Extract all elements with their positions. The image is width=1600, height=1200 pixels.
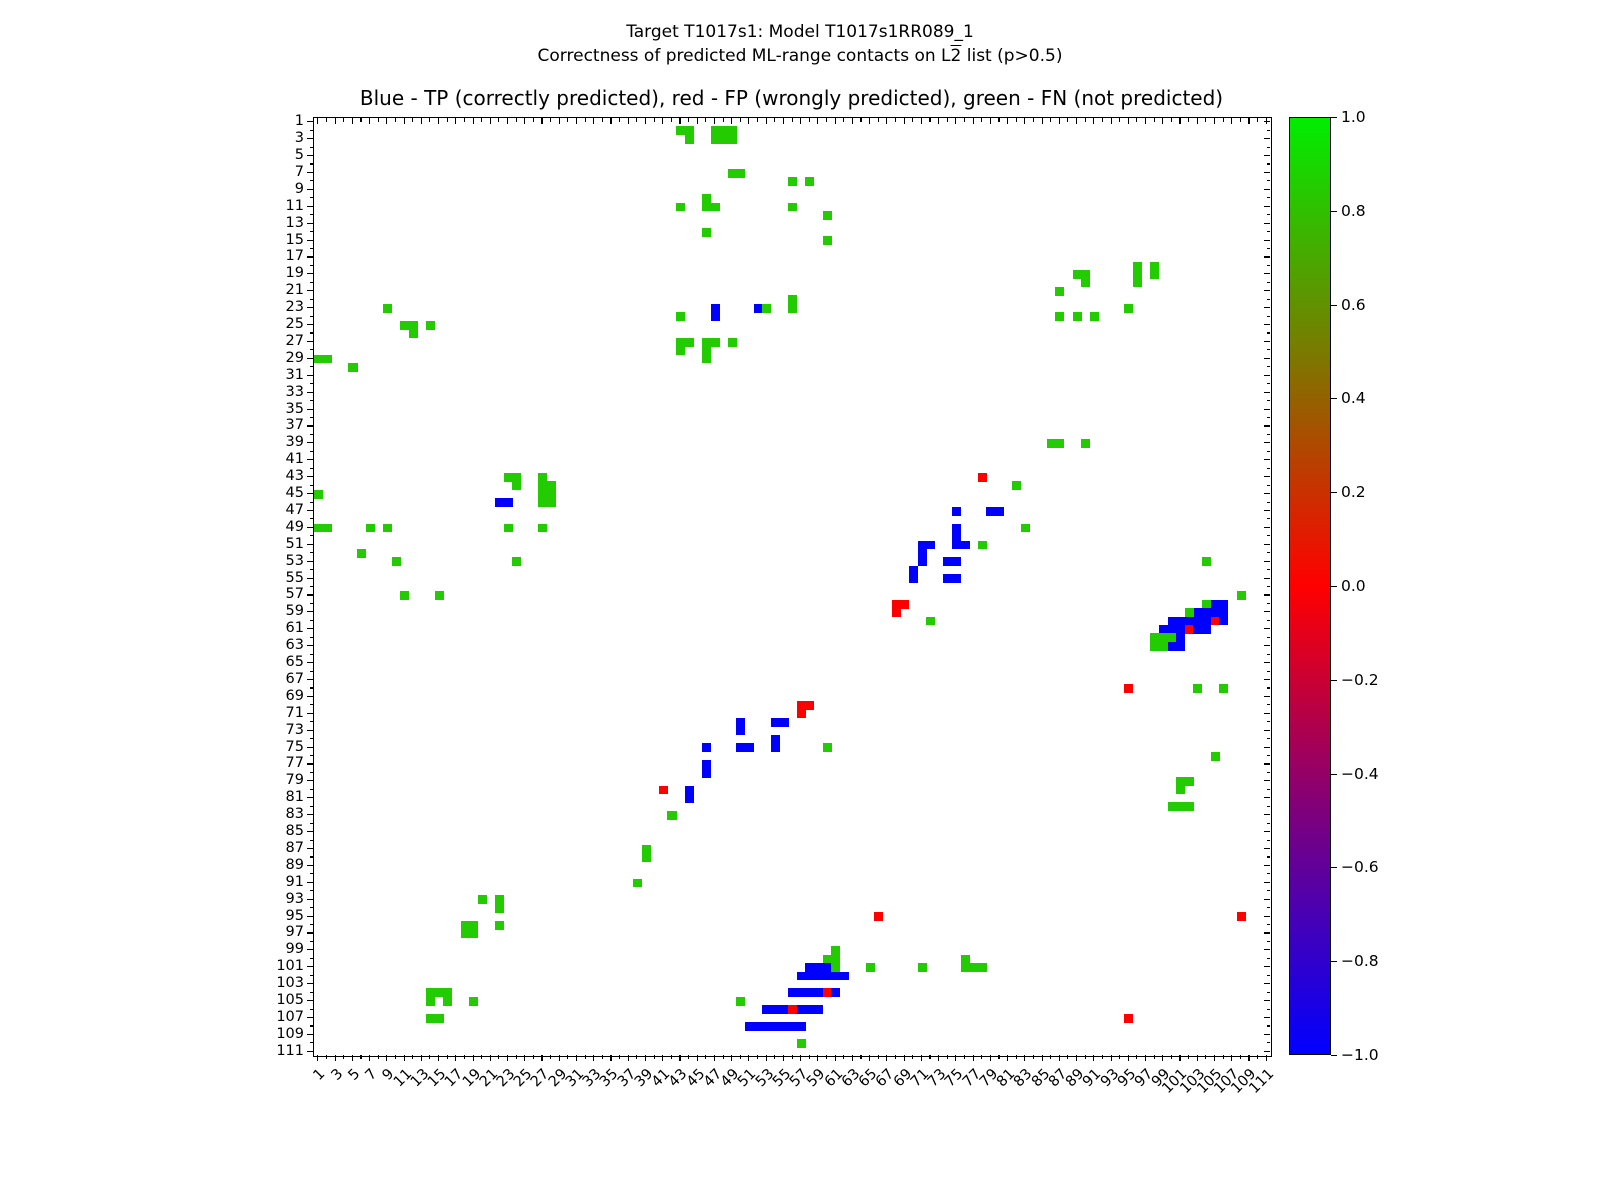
x-tick-label: 3 bbox=[250, 1066, 346, 1162]
y-tick-label: 1 bbox=[295, 113, 304, 129]
x-tick-label: 99 bbox=[1077, 1066, 1173, 1162]
contact-cell bbox=[831, 988, 840, 997]
contact-cell bbox=[1185, 777, 1194, 786]
y-tick-label: 63 bbox=[286, 637, 304, 653]
x-tick-label: 55 bbox=[698, 1066, 794, 1162]
contact-cell bbox=[676, 312, 685, 321]
contact-cell bbox=[323, 524, 332, 533]
y-tick-label: 71 bbox=[286, 705, 304, 721]
x-tick-label: 43 bbox=[595, 1066, 691, 1162]
contact-cell bbox=[702, 355, 711, 364]
contact-cell bbox=[667, 811, 676, 820]
y-tick-label: 99 bbox=[286, 941, 304, 957]
x-tick-label: 13 bbox=[336, 1066, 432, 1162]
contact-cell bbox=[926, 617, 935, 626]
y-tick-label: 33 bbox=[286, 384, 304, 400]
contact-cell bbox=[633, 879, 642, 888]
contact-cell bbox=[702, 743, 711, 752]
colorbar-tick bbox=[1331, 961, 1337, 962]
y-tick-label: 101 bbox=[276, 958, 304, 974]
contact-cell bbox=[797, 710, 806, 719]
x-tick-label: 51 bbox=[664, 1066, 760, 1162]
contact-cell bbox=[797, 1022, 806, 1031]
contact-cell bbox=[443, 997, 452, 1006]
y-tick-label: 107 bbox=[276, 1009, 304, 1025]
contact-cell bbox=[504, 498, 513, 507]
contact-cell bbox=[538, 524, 547, 533]
x-tick-label: 69 bbox=[819, 1066, 915, 1162]
colorbar-gradient bbox=[1289, 117, 1331, 1055]
contact-cell bbox=[823, 236, 832, 245]
x-tick-label: 95 bbox=[1043, 1066, 1139, 1162]
contact-cell bbox=[805, 177, 814, 186]
y-tick-label: 61 bbox=[286, 620, 304, 636]
colorbar: 1.00.80.60.40.20.0−0.2−0.4−0.6−0.8−1.0 bbox=[1289, 117, 1331, 1055]
contact-cell bbox=[1081, 439, 1090, 448]
contact-cell bbox=[780, 718, 789, 727]
colorbar-tick bbox=[1331, 774, 1337, 775]
contact-cell bbox=[736, 726, 745, 735]
contact-cell bbox=[892, 608, 901, 617]
contact-cell bbox=[840, 972, 849, 981]
contact-cell bbox=[1202, 557, 1211, 566]
y-tick-label: 13 bbox=[286, 215, 304, 231]
contact-cell bbox=[736, 997, 745, 1006]
contact-cell bbox=[642, 853, 651, 862]
x-tick-label: 31 bbox=[491, 1066, 587, 1162]
contact-cell bbox=[323, 355, 332, 364]
x-tick-label: 93 bbox=[1026, 1066, 1122, 1162]
y-tick-label: 79 bbox=[286, 772, 304, 788]
contact-cell bbox=[823, 955, 832, 964]
x-tick-label: 21 bbox=[405, 1066, 501, 1162]
contact-cell bbox=[831, 946, 840, 955]
contact-cell bbox=[711, 203, 720, 212]
contact-cell bbox=[762, 304, 771, 313]
x-tick-label: 7 bbox=[284, 1066, 380, 1162]
colorbar-tick bbox=[1331, 305, 1337, 306]
colorbar-tick bbox=[1331, 398, 1337, 399]
contact-cell bbox=[1185, 802, 1194, 811]
y-tick-label: 81 bbox=[286, 789, 304, 805]
contact-cell bbox=[978, 963, 987, 972]
contact-cell bbox=[952, 557, 961, 566]
contact-cell bbox=[1202, 625, 1211, 634]
contact-cell bbox=[1237, 591, 1246, 600]
y-tick-label: 93 bbox=[286, 891, 304, 907]
contact-cell bbox=[1055, 439, 1064, 448]
contact-cell bbox=[1012, 481, 1021, 490]
colorbar-tick-label: 0.8 bbox=[1341, 202, 1366, 220]
contact-cell bbox=[814, 1005, 823, 1014]
x-tick-label: 73 bbox=[853, 1066, 949, 1162]
contact-cell bbox=[426, 997, 435, 1006]
contact-cell bbox=[926, 541, 935, 550]
colorbar-tick bbox=[1331, 586, 1337, 587]
contact-cell bbox=[409, 329, 418, 338]
colorbar-tick-label: −0.8 bbox=[1341, 952, 1379, 970]
contact-cell bbox=[1219, 684, 1228, 693]
colorbar-tick bbox=[1331, 117, 1337, 118]
y-tick-label: 19 bbox=[286, 265, 304, 281]
contact-cell bbox=[685, 135, 694, 144]
x-tick-label: 101 bbox=[1095, 1066, 1191, 1162]
colorbar-tick-label: 1.0 bbox=[1341, 108, 1366, 126]
x-tick-label: 71 bbox=[836, 1066, 932, 1162]
contact-cell bbox=[978, 473, 987, 482]
contact-cell bbox=[874, 912, 883, 921]
x-tick-label: 33 bbox=[508, 1066, 604, 1162]
contact-cell bbox=[711, 312, 720, 321]
x-tick-label: 75 bbox=[870, 1066, 966, 1162]
y-tick-label: 53 bbox=[286, 553, 304, 569]
y-tick-label: 87 bbox=[286, 840, 304, 856]
x-tick-label: 107 bbox=[1146, 1066, 1242, 1162]
colorbar-tick bbox=[1331, 680, 1337, 681]
x-tick-label: 111 bbox=[1181, 1066, 1277, 1162]
y-tick-label: 11 bbox=[286, 198, 304, 214]
contact-cell bbox=[1055, 287, 1064, 296]
contact-cell bbox=[797, 1039, 806, 1048]
x-tick-label: 91 bbox=[1008, 1066, 1104, 1162]
contact-cell bbox=[1081, 279, 1090, 288]
x-tick-label: 11 bbox=[319, 1066, 415, 1162]
contact-cell bbox=[1124, 1014, 1133, 1023]
y-tick-label: 15 bbox=[286, 232, 304, 248]
colorbar-tick bbox=[1331, 1055, 1337, 1056]
contact-cell bbox=[348, 363, 357, 372]
contact-cell bbox=[659, 786, 668, 795]
x-tick-label: 27 bbox=[457, 1066, 553, 1162]
y-tick-label: 67 bbox=[286, 671, 304, 687]
y-tick-label: 25 bbox=[286, 316, 304, 332]
x-tick-label: 81 bbox=[922, 1066, 1018, 1162]
x-tick-label: 77 bbox=[888, 1066, 984, 1162]
suptitle-line-1: Target T1017s1: Model T1017s1RR089_1 bbox=[0, 20, 1600, 44]
y-tick-label: 65 bbox=[286, 654, 304, 670]
contact-cell bbox=[469, 997, 478, 1006]
y-tick-label: 35 bbox=[286, 401, 304, 417]
y-tick-label: 111 bbox=[276, 1043, 304, 1059]
contact-cell bbox=[426, 321, 435, 330]
contact-cell bbox=[392, 557, 401, 566]
x-tick-label: 37 bbox=[543, 1066, 639, 1162]
contact-cell bbox=[788, 304, 797, 313]
contact-cell bbox=[504, 524, 513, 533]
contact-cell bbox=[900, 600, 909, 609]
contact-cell bbox=[788, 177, 797, 186]
colorbar-tick-label: 0.0 bbox=[1341, 577, 1366, 595]
colorbar-tick-label: 0.2 bbox=[1341, 483, 1366, 501]
x-tick-label: 5 bbox=[267, 1066, 363, 1162]
suptitle-line-2-post: list (p>0.5) bbox=[961, 46, 1062, 66]
contact-cell bbox=[435, 591, 444, 600]
contact-cell bbox=[357, 549, 366, 558]
contact-cell bbox=[805, 701, 814, 710]
y-tick-label: 73 bbox=[286, 722, 304, 738]
contact-cell bbox=[1124, 684, 1133, 693]
contact-cell bbox=[1176, 786, 1185, 795]
contact-cell bbox=[1133, 279, 1142, 288]
contact-cell bbox=[383, 304, 392, 313]
colorbar-tick-label: −0.4 bbox=[1341, 765, 1379, 783]
contact-cell bbox=[728, 338, 737, 347]
contact-cell bbox=[1176, 642, 1185, 651]
x-tick-label: 41 bbox=[577, 1066, 673, 1162]
y-tick-label: 43 bbox=[286, 468, 304, 484]
contact-cell bbox=[719, 135, 728, 144]
contact-cell bbox=[702, 769, 711, 778]
x-tick-label: 103 bbox=[1112, 1066, 1208, 1162]
y-tick-label: 109 bbox=[276, 1026, 304, 1042]
x-tick-label: 1 bbox=[232, 1066, 328, 1162]
y-tick-label: 17 bbox=[286, 248, 304, 264]
suptitle-line-2-pre: Correctness of predicted ML-range contac… bbox=[538, 46, 951, 66]
y-tick-label: 85 bbox=[286, 823, 304, 839]
y-tick-label: 91 bbox=[286, 874, 304, 890]
contact-cell bbox=[918, 963, 927, 972]
colorbar-tick-label: −0.6 bbox=[1341, 858, 1379, 876]
contact-cell bbox=[400, 591, 409, 600]
y-tick-label: 9 bbox=[295, 181, 304, 197]
x-tick-label: 57 bbox=[715, 1066, 811, 1162]
y-tick-label: 95 bbox=[286, 908, 304, 924]
x-tick-label: 25 bbox=[439, 1066, 535, 1162]
y-tick-label: 49 bbox=[286, 519, 304, 535]
contact-cell bbox=[909, 566, 918, 575]
contact-cell bbox=[831, 955, 840, 964]
colorbar-tick bbox=[1331, 211, 1337, 212]
contact-cell bbox=[1073, 312, 1082, 321]
y-tick-label: 57 bbox=[286, 586, 304, 602]
contact-cell bbox=[685, 794, 694, 803]
x-tick-label: 105 bbox=[1129, 1066, 1225, 1162]
x-tick-label: 49 bbox=[646, 1066, 742, 1162]
y-tick-label: 69 bbox=[286, 688, 304, 704]
y-tick-label: 51 bbox=[286, 536, 304, 552]
x-tick-label: 65 bbox=[784, 1066, 880, 1162]
x-tick-label: 29 bbox=[474, 1066, 570, 1162]
contact-cell bbox=[314, 490, 323, 499]
contact-cell bbox=[728, 135, 737, 144]
contact-cell bbox=[702, 228, 711, 237]
suptitle-overline-denominator: 2 bbox=[951, 46, 962, 66]
colorbar-tick-label: −0.2 bbox=[1341, 671, 1379, 689]
y-tick-label: 75 bbox=[286, 739, 304, 755]
y-tick-label: 5 bbox=[295, 147, 304, 163]
contact-cell bbox=[1219, 617, 1228, 626]
x-tick-label: 83 bbox=[939, 1066, 1035, 1162]
contact-cell bbox=[952, 507, 961, 516]
x-tick-label: 79 bbox=[905, 1066, 1001, 1162]
colorbar-tick-label: 0.6 bbox=[1341, 296, 1366, 314]
y-tick-label: 27 bbox=[286, 333, 304, 349]
contact-cell bbox=[1124, 304, 1133, 313]
contact-cell bbox=[1021, 524, 1030, 533]
y-tick-label: 21 bbox=[286, 282, 304, 298]
x-tick-label: 47 bbox=[629, 1066, 725, 1162]
y-tick-label: 23 bbox=[286, 299, 304, 315]
contact-cell bbox=[469, 929, 478, 938]
contact-cell bbox=[1193, 684, 1202, 693]
y-tick-label: 47 bbox=[286, 502, 304, 518]
contact-cell bbox=[676, 203, 685, 212]
y-tick-label: 39 bbox=[286, 434, 304, 450]
contact-cell bbox=[823, 211, 832, 220]
contact-cell bbox=[383, 524, 392, 533]
x-tick-label: 9 bbox=[301, 1066, 397, 1162]
y-tick-label: 7 bbox=[295, 164, 304, 180]
x-tick-label: 87 bbox=[974, 1066, 1070, 1162]
x-tick-label: 53 bbox=[681, 1066, 777, 1162]
contact-cell bbox=[1237, 912, 1246, 921]
contact-cell bbox=[1055, 312, 1064, 321]
colorbar-tick bbox=[1331, 492, 1337, 493]
contact-cell bbox=[1090, 312, 1099, 321]
x-tick-label: 85 bbox=[957, 1066, 1053, 1162]
contact-cell bbox=[771, 743, 780, 752]
y-tick-label: 105 bbox=[276, 992, 304, 1008]
contact-cell bbox=[823, 743, 832, 752]
contact-cell bbox=[1211, 752, 1220, 761]
contact-cell bbox=[909, 574, 918, 583]
contact-cell bbox=[736, 169, 745, 178]
contact-cell bbox=[961, 541, 970, 550]
contact-cell bbox=[952, 574, 961, 583]
suptitle-line-2: Correctness of predicted ML-range contac… bbox=[0, 44, 1600, 68]
y-tick-label: 83 bbox=[286, 806, 304, 822]
contact-cell bbox=[495, 921, 504, 930]
colorbar-tick-label: 0.4 bbox=[1341, 389, 1366, 407]
contact-cell bbox=[866, 963, 875, 972]
x-tick-label: 59 bbox=[733, 1066, 829, 1162]
contact-cell bbox=[495, 904, 504, 913]
contact-cell bbox=[478, 895, 487, 904]
contact-cell bbox=[547, 498, 556, 507]
colorbar-tick-label: −1.0 bbox=[1341, 1046, 1379, 1064]
contact-cell bbox=[512, 557, 521, 566]
x-tick-label: 61 bbox=[750, 1066, 846, 1162]
x-tick-label: 39 bbox=[560, 1066, 656, 1162]
x-tick-label: 109 bbox=[1164, 1066, 1260, 1162]
contact-cell bbox=[1150, 270, 1159, 279]
contact-cell bbox=[745, 743, 754, 752]
contact-cell bbox=[512, 481, 521, 490]
y-tick-label: 41 bbox=[286, 451, 304, 467]
contact-map-plot bbox=[313, 117, 1272, 1057]
y-tick-label: 89 bbox=[286, 857, 304, 873]
contact-cell bbox=[711, 338, 720, 347]
axes-title: Blue - TP (correctly predicted), red - F… bbox=[313, 86, 1270, 110]
x-tick-label: 89 bbox=[991, 1066, 1087, 1162]
x-tick-label: 45 bbox=[612, 1066, 708, 1162]
colorbar-tick bbox=[1331, 867, 1337, 868]
contact-cell bbox=[435, 1014, 444, 1023]
x-tick-label: 67 bbox=[801, 1066, 897, 1162]
x-tick-label: 23 bbox=[422, 1066, 518, 1162]
y-tick-label: 3 bbox=[295, 130, 304, 146]
contact-cell bbox=[918, 557, 927, 566]
contact-cell bbox=[995, 507, 1004, 516]
x-tick-label: 97 bbox=[1060, 1066, 1156, 1162]
y-tick-label: 77 bbox=[286, 755, 304, 771]
y-tick-label: 31 bbox=[286, 367, 304, 383]
x-tick-label: 19 bbox=[388, 1066, 484, 1162]
y-tick-label: 45 bbox=[286, 485, 304, 501]
x-tick-label: 35 bbox=[526, 1066, 622, 1162]
y-tick-label: 103 bbox=[276, 975, 304, 991]
contact-cell bbox=[978, 541, 987, 550]
x-tick-label: 15 bbox=[353, 1066, 449, 1162]
contact-cell bbox=[685, 338, 694, 347]
y-tick-label: 55 bbox=[286, 570, 304, 586]
x-tick-label: 63 bbox=[767, 1066, 863, 1162]
y-tick-label: 29 bbox=[286, 350, 304, 366]
contact-cell bbox=[366, 524, 375, 533]
contact-map-cells bbox=[314, 118, 1271, 1056]
x-tick-label: 17 bbox=[370, 1066, 466, 1162]
figure-suptitle: Target T1017s1: Model T1017s1RR089_1 Cor… bbox=[0, 20, 1600, 68]
contact-cell bbox=[676, 346, 685, 355]
contact-cell bbox=[788, 203, 797, 212]
y-tick-label: 37 bbox=[286, 417, 304, 433]
y-tick-label: 59 bbox=[286, 603, 304, 619]
y-tick-label: 97 bbox=[286, 924, 304, 940]
